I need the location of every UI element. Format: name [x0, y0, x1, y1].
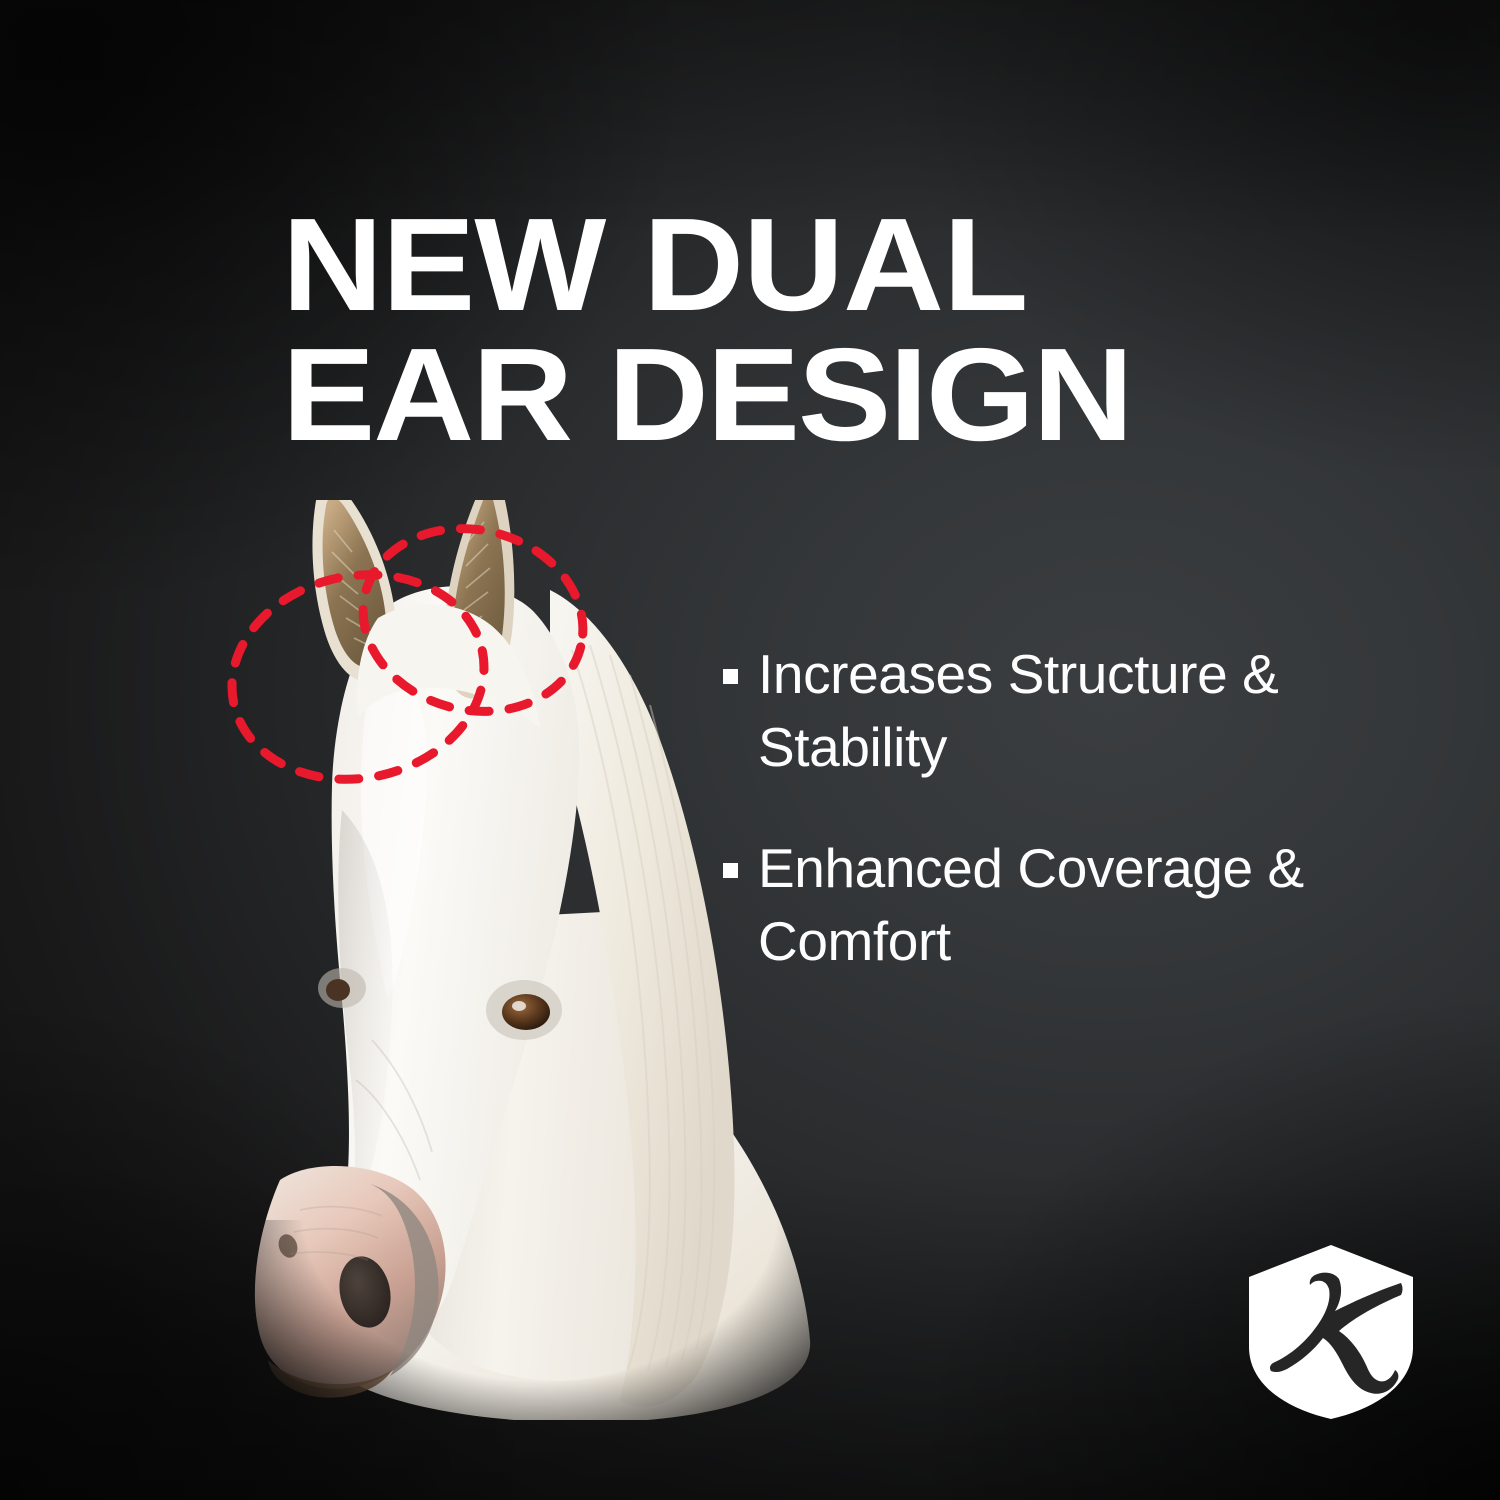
horse-eye-left	[318, 968, 366, 1008]
horse-eye-right	[486, 980, 562, 1040]
list-item: Increases Structure & Stability	[723, 638, 1423, 784]
feature-list: Increases Structure & Stability Enhanced…	[723, 638, 1423, 1027]
marketing-banner: NEW DUAL EAR DESIGN Increases Structure …	[0, 0, 1500, 1500]
headline-line-1: NEW DUAL	[282, 200, 1321, 329]
shield-k-logo-icon	[1243, 1243, 1419, 1421]
feature-text: Increases Structure & Stability	[758, 638, 1423, 784]
page-title: NEW DUAL EAR DESIGN	[282, 200, 1321, 459]
list-item: Enhanced Coverage & Comfort	[723, 832, 1423, 978]
square-bullet-icon	[723, 863, 738, 878]
brand-logo	[1243, 1243, 1419, 1421]
headline-line-2: EAR DESIGN	[282, 330, 1321, 459]
square-bullet-icon	[723, 669, 738, 684]
feature-text: Enhanced Coverage & Comfort	[758, 832, 1423, 978]
